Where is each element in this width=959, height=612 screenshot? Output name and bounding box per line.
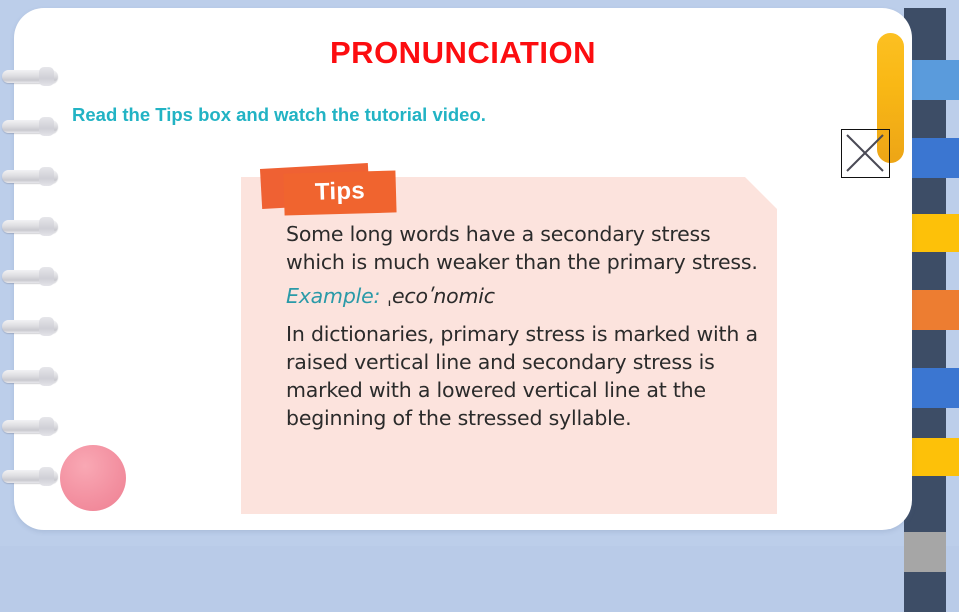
- spiral-binding-ring: [2, 120, 58, 133]
- tab-navy-bottom[interactable]: [904, 572, 946, 612]
- spiral-binding-ring: [2, 170, 58, 183]
- tips-example-line: Example: ˌecoʹnomic: [286, 282, 764, 310]
- tips-body: Some long words have a secondary stress …: [286, 220, 764, 438]
- close-button[interactable]: [841, 129, 890, 178]
- tips-example-word: ˌecoʹnomic: [387, 284, 495, 308]
- spiral-binding-ring: [2, 270, 58, 283]
- spiral-binding-ring: [2, 370, 58, 383]
- spiral-binding-ring: [2, 420, 58, 433]
- spiral-binding-ring: [2, 320, 58, 333]
- spiral-binding-ring: [2, 470, 58, 483]
- pink-circle-decoration: [60, 445, 126, 511]
- tips-paragraph-1: Some long words have a secondary stress …: [286, 220, 764, 276]
- tab-lightblue[interactable]: [904, 60, 959, 100]
- tab-blue-2[interactable]: [904, 368, 959, 408]
- spiral-binding: [0, 8, 64, 540]
- tips-badge-label: Tips: [315, 177, 366, 206]
- tab-blue[interactable]: [904, 138, 959, 178]
- tab-yellow-2[interactable]: [904, 438, 959, 476]
- tab-orange[interactable]: [904, 290, 959, 330]
- spiral-binding-ring: [2, 220, 58, 233]
- close-x-icon: [842, 130, 888, 176]
- spiral-binding-ring: [2, 70, 58, 83]
- notebook-page: PRONUNCIATION Read the Tips box and watc…: [14, 8, 912, 530]
- page-title: PRONUNCIATION: [14, 35, 912, 71]
- tab-yellow-1[interactable]: [904, 214, 959, 252]
- tips-example-label: Example:: [286, 284, 380, 308]
- tab-gray[interactable]: [904, 532, 946, 572]
- instruction-text: Read the Tips box and watch the tutorial…: [72, 104, 486, 126]
- slide-canvas: PRONUNCIATION Read the Tips box and watc…: [0, 0, 959, 546]
- tips-badge: Tips: [283, 170, 396, 215]
- tips-paragraph-2: In dictionaries, primary stress is marke…: [286, 320, 764, 432]
